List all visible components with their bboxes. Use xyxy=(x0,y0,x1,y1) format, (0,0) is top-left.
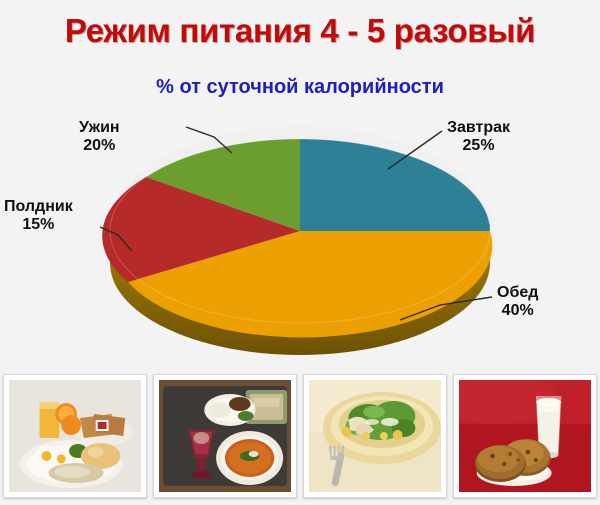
callout-snack-value: 15% xyxy=(4,216,73,234)
callout-dinner: Ужин 20% xyxy=(79,119,120,155)
photo-strip xyxy=(0,374,600,502)
page-subtitle: % от суточной калорийности xyxy=(0,76,600,99)
photo-frame-salad xyxy=(303,374,447,498)
callout-dinner-name: Ужин xyxy=(79,119,120,136)
photo-frame-lunch xyxy=(153,374,297,498)
callout-lunch-name: Обед xyxy=(497,284,538,301)
photo-frame-breakfast xyxy=(3,374,147,498)
page-title: Режим питания 4 - 5 разовый xyxy=(0,12,600,50)
callout-dinner-value: 20% xyxy=(79,137,120,155)
poster-root: Режим питания 4 - 5 разовый % от суточно… xyxy=(0,0,600,505)
photo-frame-snack xyxy=(453,374,597,498)
callout-breakfast: Завтрак 25% xyxy=(447,119,510,155)
photo-breakfast-plate-eggs-juice-toast xyxy=(9,380,141,492)
photo-milk-glass-with-oat-cookies xyxy=(459,380,591,492)
callout-breakfast-value: 25% xyxy=(447,137,510,155)
callout-breakfast-name: Завтрак xyxy=(447,119,510,136)
callout-snack: Полдник 15% xyxy=(4,198,73,234)
callout-snack-name: Полдник xyxy=(4,198,73,215)
photo-lunch-tray-soup-salad-drink xyxy=(159,380,291,492)
callout-lunch: Обед 40% xyxy=(497,284,538,320)
photo-chicken-salad-bowl xyxy=(309,380,441,492)
callout-lunch-value: 40% xyxy=(497,302,538,320)
